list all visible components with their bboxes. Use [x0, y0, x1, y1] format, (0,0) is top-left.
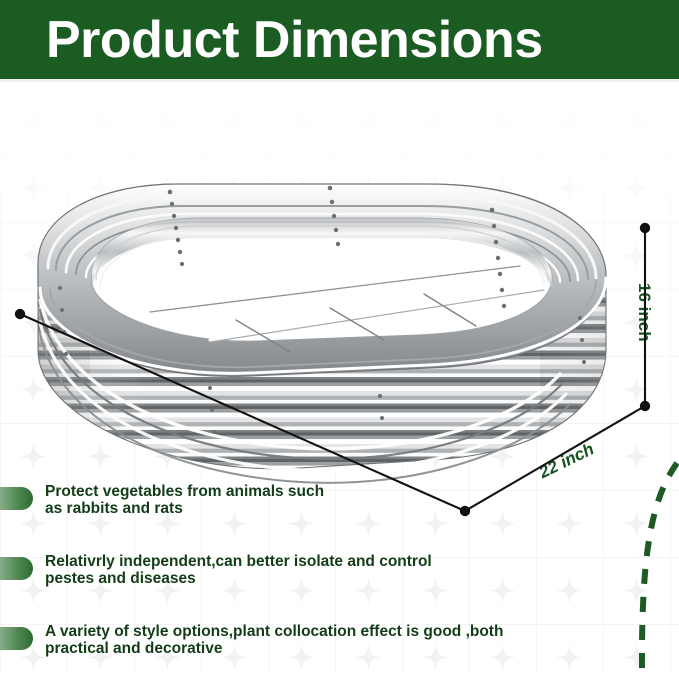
feature-item-2: A variety of style options,plant colloca… [0, 623, 560, 671]
header-underline [0, 79, 679, 82]
feature-item-0: Protect vegetables from animals such as … [0, 483, 560, 531]
page-header-banner: Product Dimensions [0, 0, 679, 79]
feature-text-0: Protect vegetables from animals such as … [45, 483, 324, 518]
feature-line-2: pestes and diseases [45, 570, 432, 587]
features-list: Protect vegetables from animals such as … [0, 483, 560, 693]
feature-text-2: A variety of style options,plant colloca… [45, 623, 503, 658]
bed-top-rim [38, 184, 606, 376]
feature-line-1: Protect vegetables from animals such [45, 483, 324, 500]
feature-line-2: practical and decorative [45, 640, 503, 657]
feature-line-2: as rabbits and rats [45, 500, 324, 517]
feature-line-1: A variety of style options,plant colloca… [45, 623, 503, 640]
feature-item-1: Relativrly independent,can better isolat… [0, 553, 560, 601]
bullet-pill-icon [0, 627, 33, 650]
bullet-pill-icon [0, 487, 33, 510]
bullet-pill-icon [0, 557, 33, 580]
page-title: Product Dimensions [0, 14, 543, 66]
feature-line-1: Relativrly independent,can better isolat… [45, 553, 432, 570]
feature-text-1: Relativrly independent,can better isolat… [45, 553, 432, 588]
product-image-oval-raised-garden-bed [0, 88, 679, 528]
